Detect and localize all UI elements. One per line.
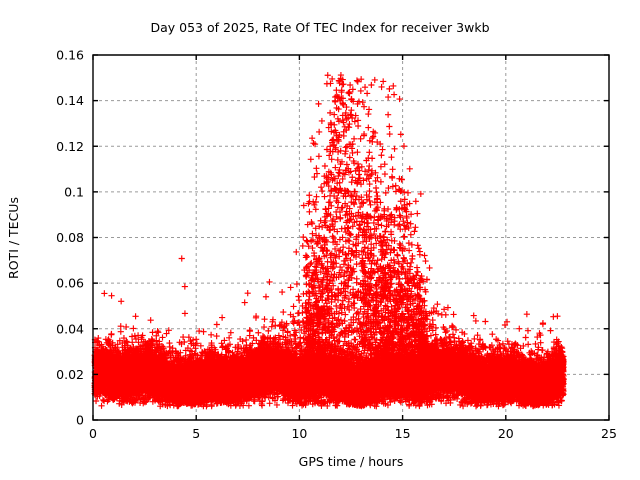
page-title: Day 053 of 2025, Rate Of TEC Index for r… [150, 20, 489, 35]
chart-canvas: Day 053 of 2025, Rate Of TEC Index for r… [0, 0, 640, 480]
roti-scatter-plot: Day 053 of 2025, Rate Of TEC Index for r… [0, 0, 640, 480]
